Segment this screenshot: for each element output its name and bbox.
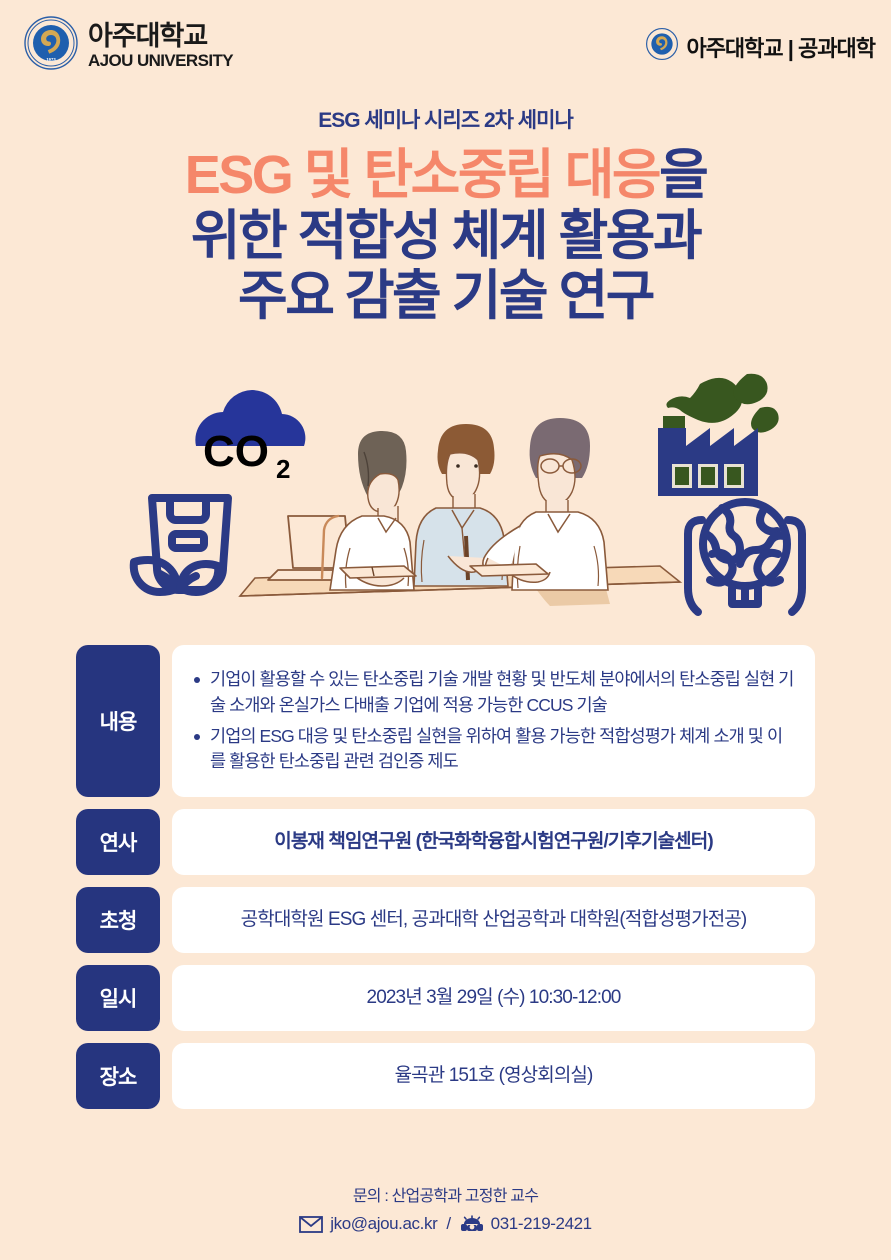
row-value-venue: 율곡관 151호 (영상회의실) xyxy=(172,1043,815,1109)
venue-text: 율곡관 151호 (영상회의실) xyxy=(190,1063,797,1089)
info-row-host: 초청 공학대학원 ESG 센터, 공과대학 산업공학과 대학원(적합성평가전공) xyxy=(76,887,815,953)
ajou-logo-english: AJOU UNIVERSITY xyxy=(88,52,233,69)
title-line-1-coral: ESG 및 탄소중립 대응 xyxy=(185,145,659,205)
ajou-logo-text: 아주대학교 AJOU UNIVERSITY xyxy=(88,23,233,69)
contact-person-line: 문의 : 산업공학과 고정한 교수 xyxy=(0,1186,891,1208)
datetime-text: 2023년 3월 29일 (수) 10:30-12:00 xyxy=(190,985,797,1011)
engineering-college-logo-text: 아주대학교 | 공과대학 xyxy=(686,31,875,63)
contact-separator: / xyxy=(444,1212,452,1236)
info-row-datetime: 일시 2023년 3월 29일 (수) 10:30-12:00 xyxy=(76,965,815,1031)
title-line-3: 주요 감출 기술 연구 xyxy=(0,266,891,326)
title-line-2: 위한 적합성 체계 활용과 xyxy=(0,206,891,266)
info-table: 내용 기업이 활용할 수 있는 탄소중립 기술 개발 현황 및 반도체 분야에서… xyxy=(76,645,815,1109)
factory-green-leaves-icon xyxy=(658,374,779,496)
row-label-speaker: 연사 xyxy=(76,809,160,875)
info-row-speaker: 연사 이봉재 책임연구원 (한국화학융합시험연구원/기후기술센터) xyxy=(76,809,815,875)
engineering-college-logo: 아주대학교 | 공과대학 xyxy=(646,28,875,65)
person-right xyxy=(483,418,608,590)
contact-email[interactable]: jko@ajou.ac.kr xyxy=(330,1212,437,1236)
row-label-datetime: 일시 xyxy=(76,965,160,1031)
row-value-datetime: 2023년 3월 29일 (수) 10:30-12:00 xyxy=(172,965,815,1031)
page-title: ESG 및 탄소중립 대응을 위한 적합성 체계 활용과 주요 감출 기술 연구 xyxy=(0,145,891,326)
list-item: 기업의 ESG 대응 및 탄소중립 실현을 위하여 활용 가능한 적합성평가 체… xyxy=(190,724,797,776)
row-label-venue: 장소 xyxy=(76,1043,160,1109)
row-label-host: 초청 xyxy=(76,887,160,953)
title-block: ESG 세미나 시리즈 2차 세미나 ESG 및 탄소중립 대응을 위한 적합성… xyxy=(0,108,891,327)
info-row-venue: 장소 율곡관 151호 (영상회의실) xyxy=(76,1043,815,1109)
svg-text:1973: 1973 xyxy=(46,57,56,62)
content-bullet-list: 기업이 활용할 수 있는 탄소중립 기술 개발 현황 및 반도체 분야에서의 탄… xyxy=(190,667,797,776)
eco-bag-leaves-icon xyxy=(134,560,218,592)
hands-holding-globe-icon xyxy=(688,502,802,612)
ajou-university-logo: 1973 아주대학교 AJOU UNIVERSITY xyxy=(24,16,233,75)
contact-details-line: jko@ajou.ac.kr / 031-219-2421 xyxy=(0,1212,891,1236)
row-value-host: 공학대학원 ESG 센터, 공과대학 산업공학과 대학원(적합성평가전공) xyxy=(172,887,815,953)
seminar-poster: 1973 아주대학교 AJOU UNIVERSITY 아주대학교 | 공과대학 … xyxy=(0,0,891,1260)
title-line-1-navy: 을 xyxy=(659,145,706,205)
co2-cloud-icon: CO 2 xyxy=(195,390,305,484)
ajou-university-seal-icon: 1973 xyxy=(24,16,78,75)
business-meeting-illustration xyxy=(240,418,680,606)
illustration-band: CO 2 xyxy=(0,368,891,630)
row-value-speaker: 이봉재 책임연구원 (한국화학융합시험연구원/기후기술센터) xyxy=(172,809,815,875)
contact-phone[interactable]: 031-219-2421 xyxy=(491,1212,592,1236)
svg-text:2: 2 xyxy=(276,454,290,484)
ajou-university-seal-icon xyxy=(646,28,678,65)
info-row-content: 내용 기업이 활용할 수 있는 탄소중립 기술 개발 현황 및 반도체 분야에서… xyxy=(76,645,815,797)
poster-header: 1973 아주대학교 AJOU UNIVERSITY 아주대학교 | 공과대학 xyxy=(0,0,891,92)
list-item: 기업이 활용할 수 있는 탄소중립 기술 개발 현황 및 반도체 분야에서의 탄… xyxy=(190,667,797,719)
poster-footer: 문의 : 산업공학과 고정한 교수 jko@ajou.ac.kr / xyxy=(0,1186,891,1236)
telephone-icon xyxy=(460,1215,484,1233)
host-text: 공학대학원 ESG 센터, 공과대학 산업공학과 대학원(적합성평가전공) xyxy=(190,907,797,933)
speaker-text: 이봉재 책임연구원 (한국화학융합시험연구원/기후기술센터) xyxy=(190,829,797,855)
series-label: ESG 세미나 시리즈 2차 세미나 xyxy=(0,108,891,133)
row-value-content: 기업이 활용할 수 있는 탄소중립 기술 개발 현황 및 반도체 분야에서의 탄… xyxy=(172,645,815,797)
row-label-content: 내용 xyxy=(76,645,160,797)
title-line-1: ESG 및 탄소중립 대응을 xyxy=(0,145,891,205)
envelope-icon xyxy=(299,1216,323,1233)
svg-text:CO: CO xyxy=(203,427,269,476)
ajou-logo-korean: 아주대학교 xyxy=(88,23,233,50)
